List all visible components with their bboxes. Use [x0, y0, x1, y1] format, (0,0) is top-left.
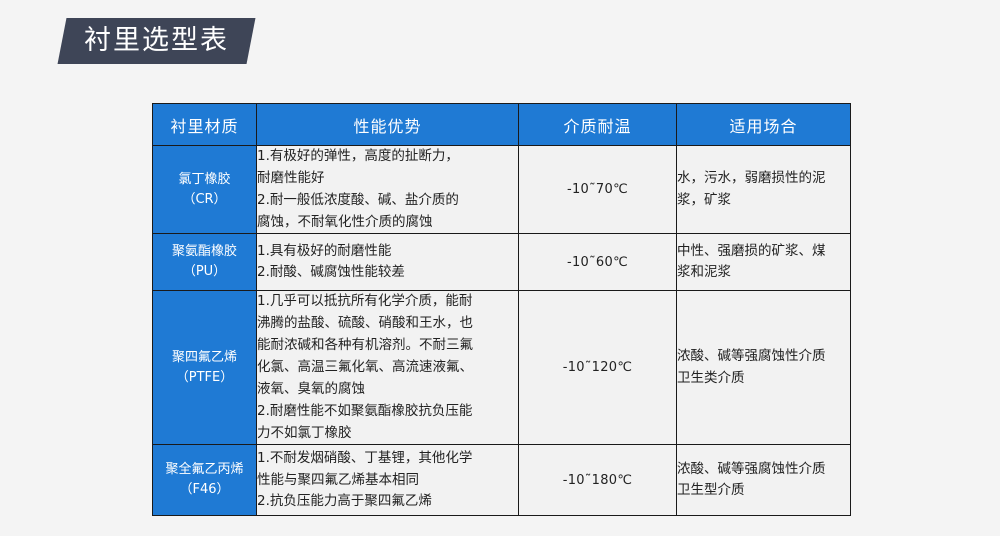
performance-line: 能耐浓碱和各种有机溶剂。不耐三氟	[257, 335, 518, 357]
material-name: 氯丁橡胶	[153, 170, 256, 190]
application-line: 中性、强磨损的矿浆、煤	[677, 241, 850, 263]
table-row: 氯丁橡胶 （CR） 1.有极好的弹性，高度的扯断力， 耐磨性能好 2.耐一般低浓…	[153, 146, 851, 234]
performance-line: 1.不耐发烟硝酸、丁基锂，其他化学	[257, 448, 518, 470]
performance-line: 腐蚀，不耐氧化性介质的腐蚀	[257, 212, 518, 234]
cell-performance: 1.几乎可以抵抗所有化学介质，能耐 沸腾的盐酸、硫酸、硝酸和王水，也 能耐浓碱和…	[257, 291, 519, 445]
cell-temperature: -10˜120℃	[519, 291, 677, 445]
performance-line: 2.耐酸、碱腐蚀性能较差	[257, 262, 518, 284]
column-header-performance: 性能优势	[257, 104, 519, 146]
material-name: 聚全氟乙丙烯	[153, 460, 256, 480]
performance-line: 1.有极好的弹性，高度的扯断力，	[257, 146, 518, 168]
material-abbreviation: （CR）	[153, 190, 256, 210]
performance-line: 力不如氯丁橡胶	[257, 423, 518, 445]
column-header-application: 适用场合	[677, 104, 851, 146]
cell-temperature: -10˜60℃	[519, 234, 677, 291]
cell-application: 水，污水，弱磨损性的泥 浆，矿浆	[677, 146, 851, 234]
application-line: 卫生类介质	[677, 368, 850, 390]
lining-selection-table: 衬里材质 性能优势 介质耐温 适用场合 氯丁橡胶 （CR） 1.有极好的弹性，高…	[152, 103, 851, 516]
cell-temperature: -10˜180℃	[519, 445, 677, 516]
application-line: 卫生型介质	[677, 480, 850, 502]
cell-material: 聚氨酯橡胶 （PU）	[153, 234, 257, 291]
table-row: 聚氨酯橡胶 （PU） 1.具有极好的耐磨性能 2.耐酸、碱腐蚀性能较差 -10˜…	[153, 234, 851, 291]
page-title: 衬里选型表	[84, 18, 229, 64]
application-line: 浓酸、碱等强腐蚀性介质	[677, 459, 850, 481]
table-header: 衬里材质 性能优势 介质耐温 适用场合	[153, 104, 851, 146]
performance-line: 耐磨性能好	[257, 168, 518, 190]
table-row: 聚四氟乙烯 （PTFE） 1.几乎可以抵抗所有化学介质，能耐 沸腾的盐酸、硫酸、…	[153, 291, 851, 445]
material-abbreviation: （PTFE）	[153, 368, 256, 388]
column-header-temperature: 介质耐温	[519, 104, 677, 146]
application-line: 水，污水，弱磨损性的泥	[677, 168, 850, 190]
column-header-material: 衬里材质	[153, 104, 257, 146]
cell-application: 浓酸、碱等强腐蚀性介质 卫生类介质	[677, 291, 851, 445]
cell-application: 中性、强磨损的矿浆、煤 浆和泥浆	[677, 234, 851, 291]
performance-line: 液氧、臭氧的腐蚀	[257, 379, 518, 401]
application-line: 浆和泥浆	[677, 262, 850, 284]
cell-performance: 1.有极好的弹性，高度的扯断力， 耐磨性能好 2.耐一般低浓度酸、碱、盐介质的 …	[257, 146, 519, 234]
cell-application: 浓酸、碱等强腐蚀性介质 卫生型介质	[677, 445, 851, 516]
cell-material: 聚四氟乙烯 （PTFE）	[153, 291, 257, 445]
material-abbreviation: （F46）	[153, 480, 256, 500]
banner-shape: 衬里选型表	[58, 18, 256, 64]
cell-performance: 1.具有极好的耐磨性能 2.耐酸、碱腐蚀性能较差	[257, 234, 519, 291]
material-name: 聚四氟乙烯	[153, 348, 256, 368]
material-name: 聚氨酯橡胶	[153, 242, 256, 262]
application-line: 浆，矿浆	[677, 190, 850, 212]
performance-line: 化氯、高温三氟化氧、高流速液氟、	[257, 357, 518, 379]
performance-line: 2.耐磨性能不如聚氨酯橡胶抗负压能	[257, 401, 518, 423]
application-line: 浓酸、碱等强腐蚀性介质	[677, 346, 850, 368]
performance-line: 沸腾的盐酸、硫酸、硝酸和王水，也	[257, 313, 518, 335]
performance-line: 1.具有极好的耐磨性能	[257, 241, 518, 263]
cell-performance: 1.不耐发烟硝酸、丁基锂，其他化学 性能与聚四氟乙烯基本相同 2.抗负压能力高于…	[257, 445, 519, 516]
lining-selection-table-wrapper: 衬里材质 性能优势 介质耐温 适用场合 氯丁橡胶 （CR） 1.有极好的弹性，高…	[152, 103, 850, 516]
cell-material: 聚全氟乙丙烯 （F46）	[153, 445, 257, 516]
table-header-row: 衬里材质 性能优势 介质耐温 适用场合	[153, 104, 851, 146]
performance-line: 2.耐一般低浓度酸、碱、盐介质的	[257, 190, 518, 212]
performance-line: 性能与聚四氟乙烯基本相同	[257, 470, 518, 492]
page-title-banner: 衬里选型表	[62, 18, 251, 64]
performance-line: 1.几乎可以抵抗所有化学介质，能耐	[257, 291, 518, 313]
material-abbreviation: （PU）	[153, 262, 256, 282]
performance-line: 2.抗负压能力高于聚四氟乙烯	[257, 491, 518, 513]
table-body: 氯丁橡胶 （CR） 1.有极好的弹性，高度的扯断力， 耐磨性能好 2.耐一般低浓…	[153, 146, 851, 516]
cell-temperature: -10˜70℃	[519, 146, 677, 234]
cell-material: 氯丁橡胶 （CR）	[153, 146, 257, 234]
table-row: 聚全氟乙丙烯 （F46） 1.不耐发烟硝酸、丁基锂，其他化学 性能与聚四氟乙烯基…	[153, 445, 851, 516]
